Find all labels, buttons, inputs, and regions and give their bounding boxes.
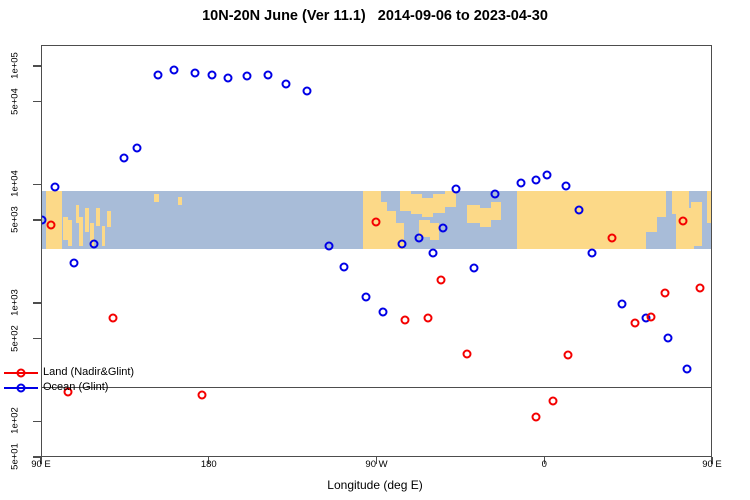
data-point-land: [563, 351, 572, 360]
data-point-land: [630, 318, 639, 327]
scatter-plot-figure: 10N-20N June (Ver 11.1) 2014-09-06 to 20…: [0, 0, 750, 500]
data-point-ocean: [243, 71, 252, 80]
legend-marker-icon: [4, 382, 38, 394]
data-point-ocean: [664, 334, 673, 343]
data-point-ocean: [429, 248, 438, 257]
land-patch: [85, 208, 89, 231]
data-point-ocean: [282, 79, 291, 88]
data-point-ocean: [302, 86, 311, 95]
data-point-ocean: [543, 171, 552, 180]
land-patch: [400, 191, 411, 211]
land-patch: [178, 197, 182, 206]
data-point-land: [647, 312, 656, 321]
y-tick-mark: [33, 219, 41, 220]
land-patch: [491, 202, 500, 219]
data-point-ocean: [414, 233, 423, 242]
data-point-land: [548, 397, 557, 406]
data-point-ocean: [517, 179, 526, 188]
data-point-land: [679, 217, 688, 226]
data-point-ocean: [362, 292, 371, 301]
data-point-ocean: [451, 184, 460, 193]
data-point-ocean: [379, 307, 388, 316]
data-point-ocean: [170, 65, 179, 74]
land-patch: [691, 202, 702, 246]
land-patch: [445, 191, 456, 207]
y-tick-mark: [33, 302, 41, 303]
data-point-land: [660, 288, 669, 297]
x-axis-label: Longitude (deg E): [0, 478, 750, 492]
data-point-ocean: [190, 69, 199, 78]
y-tick-label: 5e+02: [10, 323, 21, 353]
reference-hline: [42, 387, 711, 388]
data-point-land: [198, 391, 207, 400]
data-point-ocean: [224, 74, 233, 83]
x-tick-label: 90 W: [365, 459, 387, 470]
x-tick-label: 90 E: [702, 459, 722, 470]
data-point-ocean: [438, 223, 447, 232]
y-tick-label: 1e+03: [10, 287, 21, 317]
data-point-ocean: [325, 241, 334, 250]
land-patch: [646, 191, 657, 232]
x-tick-label: 0: [542, 459, 547, 470]
data-point-ocean: [561, 181, 570, 190]
x-tick-label: 90 E: [31, 459, 51, 470]
data-point-land: [531, 413, 540, 422]
land-patch: [545, 191, 582, 249]
land-patch: [422, 198, 433, 217]
legend-label: Ocean (Glint): [43, 380, 108, 395]
data-point-ocean: [470, 264, 479, 273]
data-point-ocean: [339, 262, 348, 271]
legend: Land (Nadir&Glint)Ocean (Glint): [2, 363, 138, 397]
data-point-ocean: [90, 239, 99, 248]
legend-item[interactable]: Land (Nadir&Glint): [4, 365, 134, 380]
land-patch: [96, 208, 100, 225]
legend-marker-icon: [4, 367, 38, 379]
data-point-ocean: [263, 71, 272, 80]
data-point-ocean: [682, 365, 691, 374]
y-tick-label: 5e+04: [10, 86, 21, 116]
y-tick-label: 1e+05: [10, 50, 21, 80]
x-tick-label: 180: [201, 459, 217, 470]
land-patch: [68, 220, 72, 246]
data-point-ocean: [120, 154, 129, 163]
data-point-land: [401, 316, 410, 325]
data-point-ocean: [397, 239, 406, 248]
data-point-ocean: [617, 299, 626, 308]
y-tick-label: 5e+01: [10, 442, 21, 472]
legend-label: Land (Nadir&Glint): [43, 365, 134, 380]
data-point-land: [462, 349, 471, 358]
land-patch: [107, 211, 111, 227]
data-point-ocean: [153, 71, 162, 80]
land-patch: [517, 191, 545, 249]
data-point-land: [436, 275, 445, 284]
data-point-ocean: [51, 183, 60, 192]
land-patch: [102, 226, 106, 246]
legend-item[interactable]: Ocean (Glint): [4, 380, 134, 395]
data-point-land: [695, 284, 704, 293]
y-tick-label: 1e+02: [10, 406, 21, 436]
land-patch: [467, 205, 480, 222]
land-patch: [79, 217, 83, 246]
land-patch: [411, 194, 422, 214]
data-point-land: [423, 313, 432, 322]
data-point-land: [371, 218, 380, 227]
plot-area: [41, 45, 712, 457]
y-tick-mark: [33, 421, 41, 422]
y-tick-mark: [33, 184, 41, 185]
land-patch: [480, 208, 491, 227]
land-patch: [620, 191, 646, 249]
y-tick-label: 5e+03: [10, 205, 21, 235]
data-point-ocean: [133, 144, 142, 153]
land-patch: [154, 194, 160, 203]
land-patch: [657, 191, 666, 217]
y-tick-label: 1e+04: [10, 169, 21, 199]
data-point-ocean: [531, 176, 540, 185]
data-point-land: [47, 221, 56, 230]
data-point-ocean: [207, 70, 216, 79]
land-patch: [707, 191, 712, 223]
page-title: 10N-20N June (Ver 11.1) 2014-09-06 to 20…: [0, 8, 750, 24]
data-point-ocean: [69, 259, 78, 268]
y-tick-mark: [33, 101, 41, 102]
data-point-land: [108, 313, 117, 322]
data-point-ocean: [587, 248, 596, 257]
y-tick-mark: [33, 65, 41, 66]
data-point-land: [608, 233, 617, 242]
data-point-ocean: [490, 190, 499, 199]
land-patch: [433, 194, 444, 213]
data-point-ocean: [574, 205, 583, 214]
y-tick-mark: [33, 338, 41, 339]
